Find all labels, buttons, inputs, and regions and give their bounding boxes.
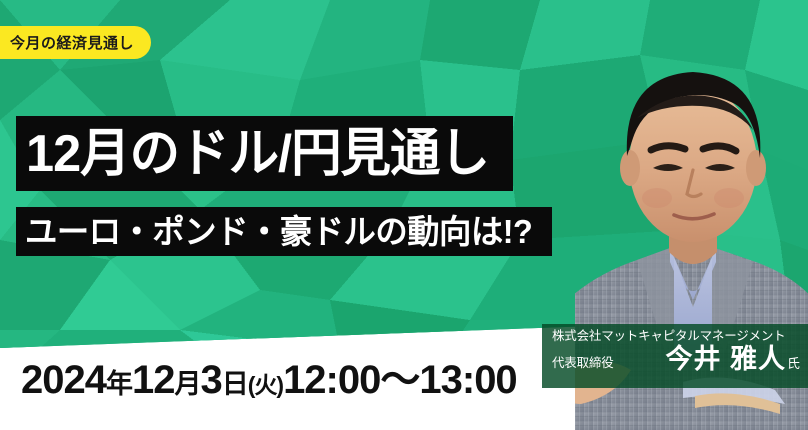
speaker-info: 株式会社マットキャピタルマネージメント 代表取締役 今井 雅人 氏 (542, 324, 808, 388)
schedule-year: 2024 (21, 360, 106, 400)
schedule-month: 12 (132, 360, 175, 400)
speaker-company: 株式会社マットキャピタルマネージメント (552, 329, 800, 345)
schedule-day-unit: 日 (222, 371, 248, 398)
schedule-year-unit: 年 (106, 371, 132, 398)
page-subtitle-text: ユーロ・ポンド・豪ドルの動向は!? (25, 215, 532, 248)
schedule-weekday: (火) (248, 374, 283, 397)
category-badge-label: 今月の経済見通し (10, 32, 134, 53)
schedule-time-start: 12:00 (283, 360, 380, 400)
schedule-time-end: 13:00 (419, 360, 516, 400)
page-title: 12月のドル/円見通し (16, 116, 513, 191)
page-title-text: 12月のドル/円見通し (26, 128, 489, 180)
schedule-day: 3 (200, 360, 221, 400)
webinar-banner: 今月の経済見通し 12月のドル/円見通し ユーロ・ポンド・豪ドルの動向は!? 2… (0, 0, 808, 430)
category-badge: 今月の経済見通し (0, 26, 151, 59)
speaker-honorific: 氏 (786, 357, 800, 370)
schedule-datetime: 2024 年 12 月 3 日 (火) 12:00 〜 13:00 (21, 360, 517, 400)
page-subtitle: ユーロ・ポンド・豪ドルの動向は!? (16, 207, 552, 256)
speaker-name-wrap: 今井 雅人 氏 (665, 346, 800, 373)
schedule-month-unit: 月 (174, 371, 200, 398)
speaker-role-row: 代表取締役 今井 雅人 氏 (552, 346, 800, 373)
speaker-role: 代表取締役 (552, 356, 614, 373)
schedule-time-separator: 〜 (380, 360, 419, 400)
speaker-name: 今井 雅人 (665, 346, 786, 373)
